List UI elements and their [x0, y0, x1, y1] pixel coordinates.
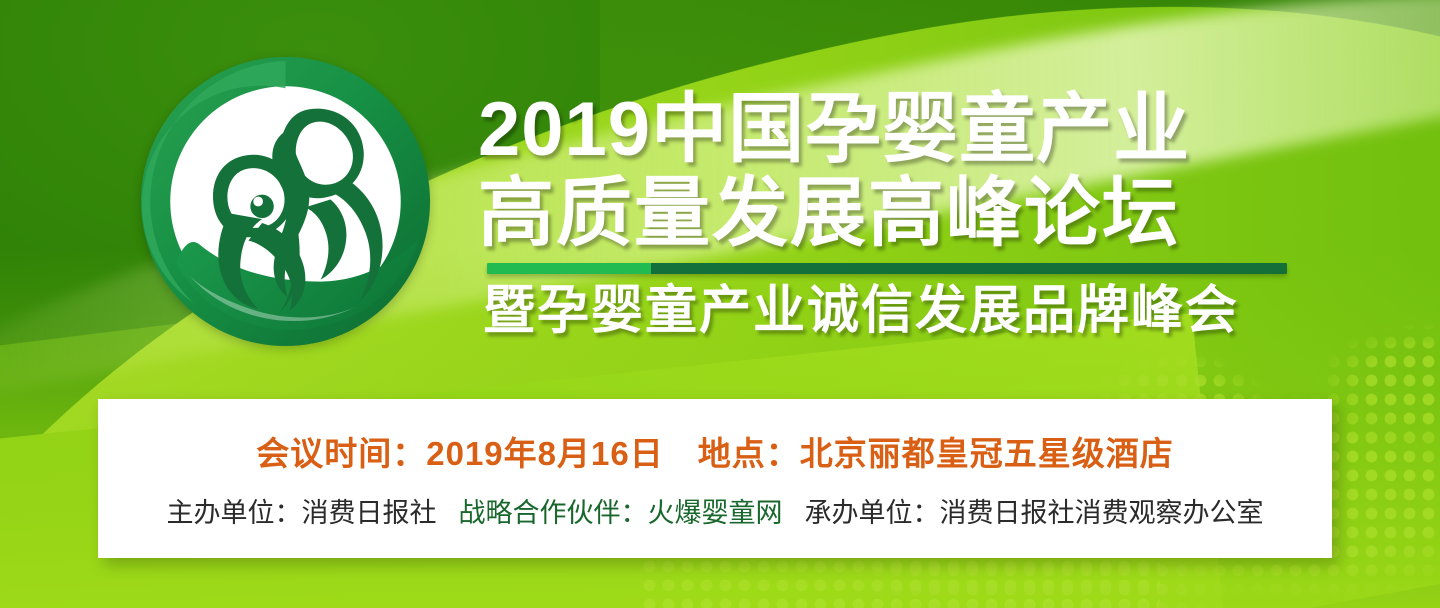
meeting-time-value: 2019年8月16日 [426, 435, 663, 472]
mother-and-child-logo [139, 55, 432, 348]
event-info-card: 会议时间：2019年8月16日地点：北京丽都皇冠五星级酒店 主办单位：消费日报社… [98, 399, 1332, 558]
conference-banner: 2019中国孕婴童产业 高质量发展高峰论坛 暨孕婴童产业诚信发展品牌峰会 会议时… [0, 0, 1440, 608]
venue-value: 北京丽都皇冠五星级酒店 [800, 435, 1174, 472]
strategic-partner-text: 战略合作伙伴：火爆婴童网 [459, 498, 783, 528]
headline-line-2: 高质量发展高峰论坛 [478, 172, 1298, 256]
subtitle-text: 暨孕婴童产业诚信发展品牌峰会 [483, 282, 1239, 340]
organizer-text: 主办单位：消费日报社 [167, 498, 437, 528]
venue-label: 地点： [698, 435, 800, 472]
meeting-time-label: 会议时间： [256, 435, 426, 472]
host-unit-text: 承办单位：消费日报社消费观察办公室 [805, 498, 1264, 528]
event-organizers-line: 主办单位：消费日报社战略合作伙伴：火爆婴童网承办单位：消费日报社消费观察办公室 [167, 491, 1264, 530]
headline-block: 2019中国孕婴童产业 高质量发展高峰论坛 [478, 88, 1298, 256]
title-divider-bar [487, 263, 1287, 274]
headline-line-1: 2019中国孕婴童产业 [478, 88, 1298, 172]
event-datetime-location-line: 会议时间：2019年8月16日地点：北京丽都皇冠五星级酒店 [256, 427, 1173, 475]
